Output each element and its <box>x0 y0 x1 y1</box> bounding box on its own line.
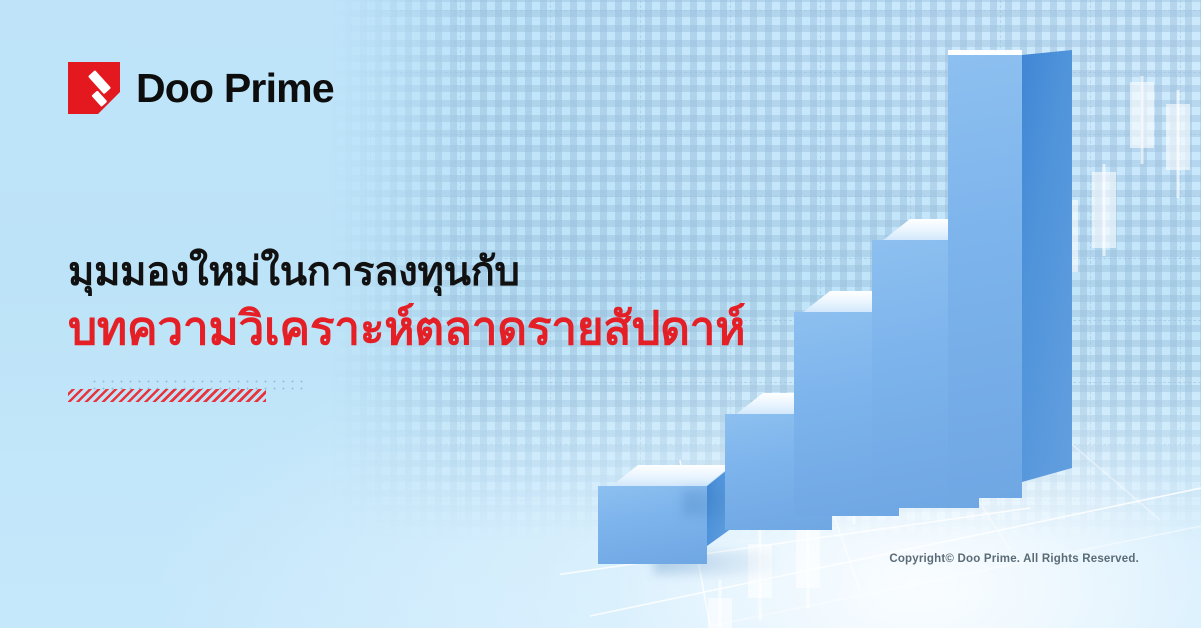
headline-line-1: มุมมองใหม่ในการลงทุนกับ <box>68 248 745 296</box>
headline: มุมมองใหม่ในการลงทุนกับ บทความวิเคราะห์ต… <box>68 248 745 358</box>
headline-line-2: บทความวิเคราะห์ตลาดรายสัปดาห์ <box>68 300 745 358</box>
marketing-banner: Doo Prime มุมมองใหม่ในการลงทุนกับ บทความ… <box>0 0 1201 628</box>
doo-prime-logo-mark <box>68 62 120 114</box>
decorative-rule <box>68 378 266 404</box>
decorative-stripes <box>68 389 266 402</box>
bar-5 <box>948 50 1072 498</box>
brand-name: Doo Prime <box>136 68 334 109</box>
brand-logo[interactable]: Doo Prime <box>68 62 334 114</box>
copyright-text: Copyright© Doo Prime. All Rights Reserve… <box>889 553 1139 565</box>
